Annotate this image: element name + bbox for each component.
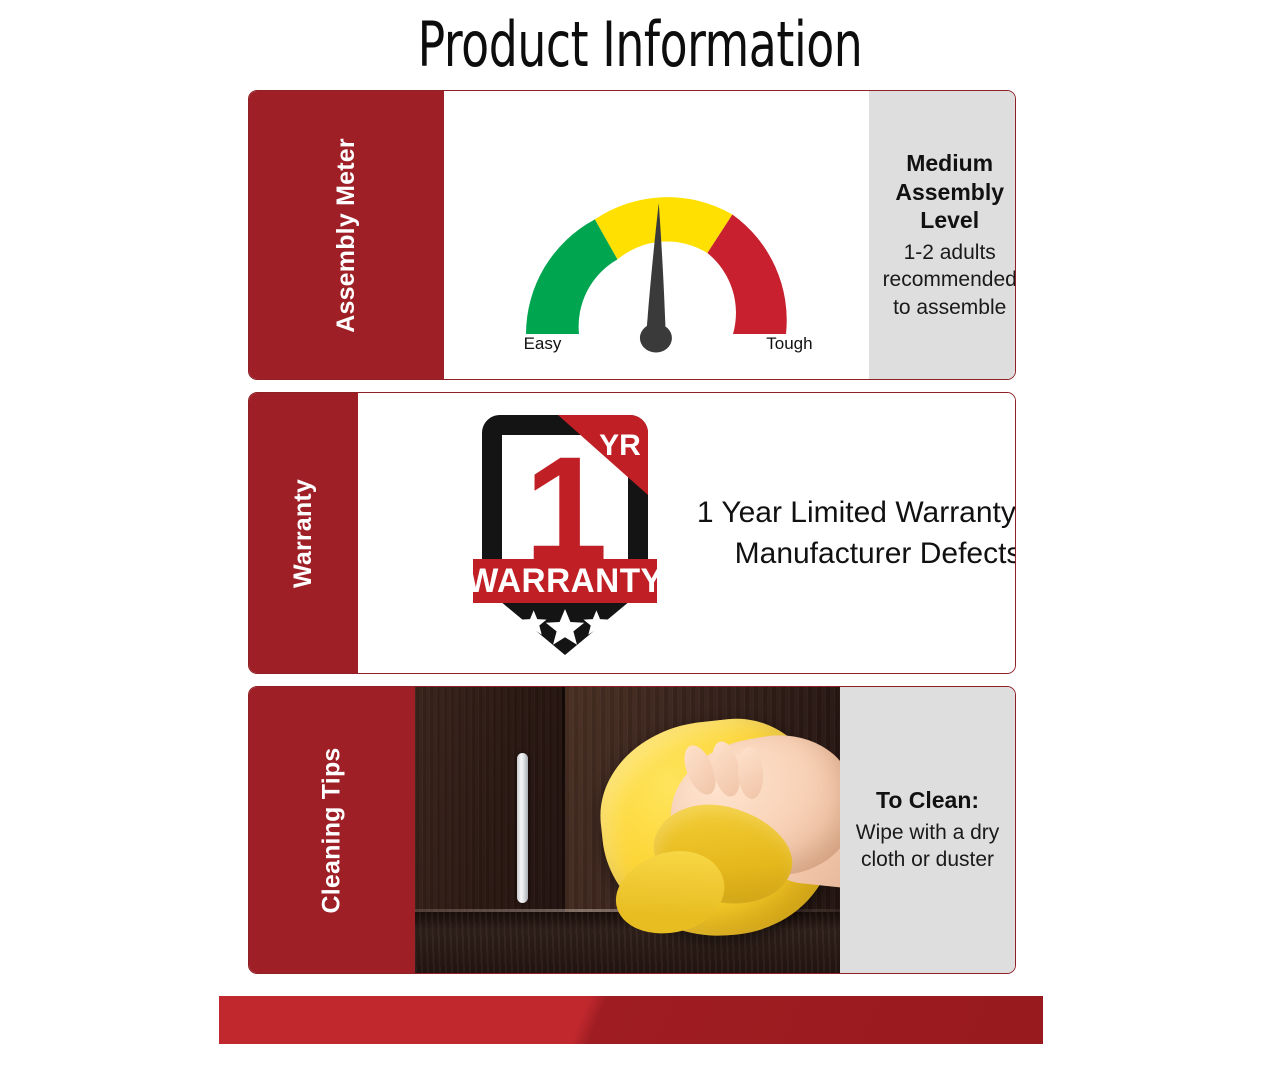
cabinet-seam <box>562 687 565 913</box>
warranty-visual-area: YR 1 WARRANTY 1 Year <box>358 393 1015 673</box>
cabinet-door-left <box>415 687 564 913</box>
panel-body: YR 1 WARRANTY 1 Year <box>358 393 1015 673</box>
panel-cleaning-tips: Cleaning Tips <box>248 686 1016 974</box>
warranty-badge: YR 1 WARRANTY <box>470 411 660 659</box>
cabinet-handle <box>517 753 528 903</box>
assembly-gauge-area: Easy Tough <box>444 91 869 379</box>
panel-tab-label: Warranty <box>289 478 318 587</box>
cleaning-photo <box>415 687 840 973</box>
page-title: Product Information <box>115 8 1165 81</box>
warranty-heading: 1 Year Limited Warranty for Manufacturer… <box>688 492 1015 574</box>
bottom-banner <box>219 996 1043 1044</box>
gauge-label-easy: Easy <box>524 334 562 354</box>
panel-tab-label: Cleaning Tips <box>318 747 347 913</box>
assembly-text-block: Medium Assembly Level 1-2 adults recomme… <box>869 91 1016 379</box>
panel-tab-label: Assembly Meter <box>332 138 361 333</box>
gauge-zone-easy <box>526 219 618 334</box>
panel-warranty: Warranty YR 1 <box>248 392 1016 674</box>
cleaning-subtext: Wipe with a dry cloth or duster <box>854 819 1001 874</box>
panel-tab-assembly-meter[interactable]: Assembly Meter <box>249 91 444 379</box>
panel-assembly-meter: Assembly Meter <box>248 90 1016 380</box>
cleaning-heading: To Clean: <box>876 786 979 815</box>
panel-tab-cleaning-tips[interactable]: Cleaning Tips <box>249 687 415 973</box>
assembly-heading: Medium Assembly Level <box>883 149 1016 235</box>
warranty-badge-svg: YR 1 WARRANTY <box>470 411 660 659</box>
assembly-subtext: 1-2 adults recommended to assemble <box>883 239 1016 321</box>
panel-body: Easy Tough Medium Assembly Level 1-2 adu… <box>444 91 1016 379</box>
panel-body: To Clean: Wipe with a dry cloth or duste… <box>415 687 1015 973</box>
assembly-gauge: Easy Tough <box>444 91 869 379</box>
cleaning-photo-area <box>415 687 840 973</box>
gauge-label-tough: Tough <box>766 334 812 354</box>
badge-banner-label: WARRANTY <box>470 563 660 600</box>
cleaning-text-block: To Clean: Wipe with a dry cloth or duste… <box>840 687 1015 973</box>
panel-tab-warranty[interactable]: Warranty <box>249 393 358 673</box>
infographic-root: Product Information Assembly Meter <box>0 0 1280 1074</box>
